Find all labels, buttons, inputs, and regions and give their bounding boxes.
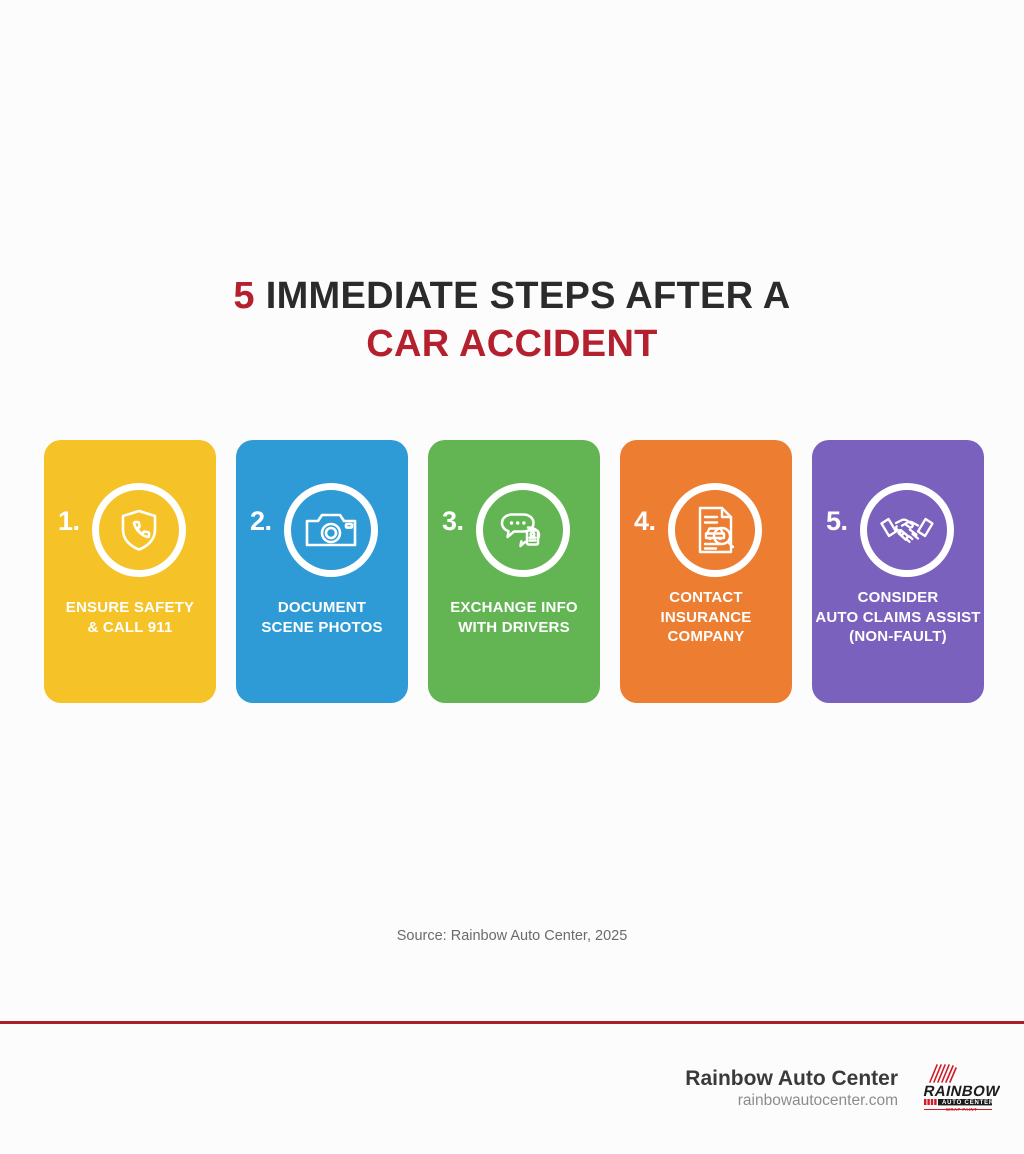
step-number-5: 5. [826, 508, 848, 535]
page-title: 5 IMMEDIATE STEPS AFTER A CAR ACCIDENT [0, 272, 1024, 368]
step-label-4: CONTACT INSURANCE COMPANY [596, 588, 816, 647]
step-card-5[interactable]: 5. CONSIDER AUTO CLAIMS ASSIST (NON-FAUL… [812, 440, 984, 703]
step-number-4: 4. [634, 508, 656, 535]
title-line-2: CAR ACCIDENT [0, 320, 1024, 368]
step-card-4[interactable]: 4. CONTACT INSURANCE COMPANY [620, 440, 792, 703]
svg-text:RAINBOW: RAINBOW [922, 1083, 1000, 1100]
step-label-5: CONSIDER AUTO CLAIMS ASSIST (NON-FAULT) [788, 588, 1008, 647]
document-car-magnifier-icon [668, 483, 762, 577]
shield-phone-icon [92, 483, 186, 577]
title-line-1: 5 IMMEDIATE STEPS AFTER A [0, 272, 1024, 320]
rainbow-auto-center-logo: RAINBOW AUTO CENTER WRAP PAINT [916, 1062, 1000, 1114]
infographic-poster: 5 IMMEDIATE STEPS AFTER A CAR ACCIDENT 1… [0, 0, 1024, 1154]
footer: Rainbow Auto Center rainbowautocenter.co… [685, 1062, 1000, 1114]
step-label-3: EXCHANGE INFO WITH DRIVERS [404, 598, 624, 637]
step-label-1: ENSURE SAFETY & CALL 911 [20, 598, 240, 637]
camera-icon [284, 483, 378, 577]
footer-divider [0, 1021, 1024, 1024]
footer-text-block: Rainbow Auto Center rainbowautocenter.co… [685, 1066, 898, 1111]
steps-row: 1. ENSURE SAFETY & CALL 911 2. DOCUM [44, 440, 980, 703]
brand-url[interactable]: rainbowautocenter.com [685, 1091, 898, 1111]
step-card-2[interactable]: 2. DOCUMENT SCENE PHOTOS [236, 440, 408, 703]
step-number-2: 2. [250, 508, 272, 535]
step-number-1: 1. [58, 508, 80, 535]
svg-text:AUTO CENTER: AUTO CENTER [942, 1100, 994, 1106]
step-card-3[interactable]: 3. EXCHANGE INFO WITH DRIVERS [428, 440, 600, 703]
title-step-count: 5 [233, 275, 254, 317]
step-number-3: 3. [442, 508, 464, 535]
title-line-1-text: IMMEDIATE STEPS AFTER A [255, 275, 791, 317]
step-label-2: DOCUMENT SCENE PHOTOS [212, 598, 432, 637]
speech-bubbles-id-icon [476, 483, 570, 577]
handshake-icon [860, 483, 954, 577]
source-note: Source: Rainbow Auto Center, 2025 [0, 928, 1024, 944]
brand-name: Rainbow Auto Center [685, 1066, 898, 1091]
step-card-1[interactable]: 1. ENSURE SAFETY & CALL 911 [44, 440, 216, 703]
